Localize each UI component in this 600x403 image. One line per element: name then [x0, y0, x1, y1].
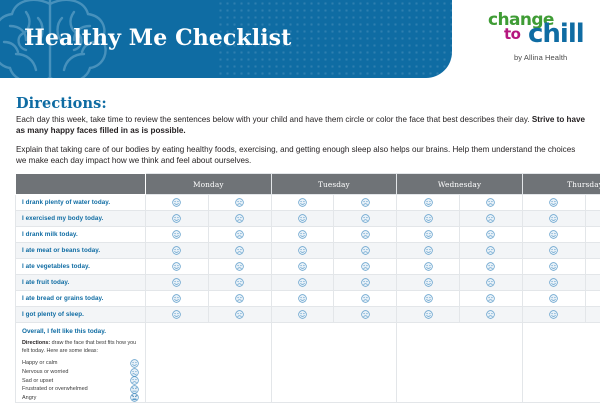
table-row: I ate bread or grains today.	[16, 291, 600, 307]
table-body: I drank plenty of water today.I exercise…	[16, 195, 600, 403]
happy-face-cell[interactable]	[271, 195, 334, 211]
table-row: I ate vegetables today.	[16, 259, 600, 275]
directions-heading: Directions:	[16, 95, 107, 112]
table-row: I exercised my body today.	[16, 211, 600, 227]
overall-feeling-instructions: Overall, I felt like this today.Directio…	[16, 323, 146, 403]
sad-face-icon[interactable]	[486, 230, 495, 239]
happy-face-cell[interactable]	[146, 275, 209, 291]
happy-face-cell[interactable]	[397, 291, 460, 307]
happy-face-icon[interactable]	[298, 294, 307, 303]
sad-face-cell[interactable]	[334, 211, 397, 227]
happy-face-icon[interactable]	[549, 230, 558, 239]
happy-face-cell[interactable]	[397, 211, 460, 227]
sad-face-icon[interactable]	[235, 246, 244, 255]
happy-face-icon[interactable]	[172, 230, 181, 239]
happy-face-cell[interactable]	[146, 307, 209, 323]
directions-body: Each day this week, take time to review …	[16, 114, 586, 174]
happy-face-icon[interactable]	[549, 262, 558, 271]
sad-face-cell[interactable]	[585, 211, 600, 227]
sad-face-icon[interactable]	[235, 262, 244, 271]
happy-face-icon[interactable]	[172, 246, 181, 255]
sad-face-cell[interactable]	[334, 243, 397, 259]
happy-face-cell[interactable]	[271, 243, 334, 259]
day-header-thursday: Thursday	[522, 174, 600, 195]
happy-face-cell[interactable]	[397, 275, 460, 291]
happy-face-cell[interactable]	[522, 259, 585, 275]
sad-face-cell[interactable]	[460, 195, 523, 211]
sad-face-cell[interactable]	[334, 275, 397, 291]
sad-face-cell[interactable]	[585, 195, 600, 211]
happy-face-cell[interactable]	[522, 307, 585, 323]
page-title: Healthy Me Checklist	[24, 25, 291, 51]
happy-face-icon[interactable]	[549, 198, 558, 207]
sad-face-icon[interactable]	[486, 214, 495, 223]
sad-face-icon[interactable]	[486, 262, 495, 271]
sad-face-cell[interactable]	[334, 259, 397, 275]
table-row: I drank milk today.	[16, 227, 600, 243]
happy-face-cell[interactable]	[271, 307, 334, 323]
day-header-wednesday: Wednesday	[397, 174, 523, 195]
header-banner: Healthy Me Checklist	[0, 0, 452, 78]
logo-word-chill: chill	[528, 21, 584, 47]
sad-face-cell[interactable]	[585, 227, 600, 243]
table-row: I ate meat or beans today.	[16, 243, 600, 259]
happy-face-cell[interactable]	[146, 211, 209, 227]
drawing-cell[interactable]	[522, 323, 600, 403]
table-row: I ate fruit today.	[16, 275, 600, 291]
sad-face-cell[interactable]	[460, 275, 523, 291]
overall-feeling-title: Overall, I felt like this today.	[22, 328, 139, 335]
sad-face-icon[interactable]	[361, 246, 370, 255]
day-header-monday: Monday	[146, 174, 272, 195]
happy-face-cell[interactable]	[397, 227, 460, 243]
directions-paragraph-1: Each day this week, take time to review …	[16, 114, 586, 137]
happy-face-icon[interactable]	[424, 198, 433, 207]
sad-face-cell[interactable]	[208, 211, 271, 227]
happy-face-icon[interactable]	[549, 278, 558, 287]
table-row: I got plenty of sleep.	[16, 307, 600, 323]
checklist-table: Monday Tuesday Wednesday Thursday Friday…	[15, 173, 600, 403]
sad-face-cell[interactable]	[585, 259, 600, 275]
happy-face-cell[interactable]	[146, 227, 209, 243]
mood-label: Happy or calm	[22, 360, 124, 366]
mood-legend-item: Happy or calm	[22, 359, 144, 368]
sad-face-cell[interactable]	[460, 307, 523, 323]
checklist-item-label: I got plenty of sleep.	[16, 307, 146, 323]
sad-face-icon[interactable]	[235, 278, 244, 287]
happy-face-icon[interactable]	[424, 246, 433, 255]
sad-face-cell[interactable]	[585, 243, 600, 259]
checklist-item-label: I drank milk today.	[16, 227, 146, 243]
happy-face-icon[interactable]	[298, 310, 307, 319]
happy-face-cell[interactable]	[146, 195, 209, 211]
logo-word-to: to	[504, 27, 520, 42]
sad-face-cell[interactable]	[334, 307, 397, 323]
sad-face-cell[interactable]	[208, 259, 271, 275]
sad-face-icon[interactable]	[486, 246, 495, 255]
sad-face-icon[interactable]	[486, 278, 495, 287]
happy-face-icon[interactable]	[424, 294, 433, 303]
happy-face-cell[interactable]	[397, 259, 460, 275]
happy-face-cell[interactable]	[271, 211, 334, 227]
happy-face-icon[interactable]	[424, 262, 433, 271]
sad-face-cell[interactable]	[334, 291, 397, 307]
sad-face-cell[interactable]	[460, 243, 523, 259]
happy-face-icon[interactable]	[298, 214, 307, 223]
mood-label: Frustrated or overwhelmed	[22, 386, 124, 392]
overall-feeling-row: Overall, I felt like this today.Directio…	[16, 323, 600, 403]
happy-face-icon[interactable]	[298, 230, 307, 239]
happy-face-cell[interactable]	[271, 291, 334, 307]
happy-face-icon[interactable]	[424, 278, 433, 287]
table-header: Monday Tuesday Wednesday Thursday Friday…	[16, 174, 600, 195]
sad-face-cell[interactable]	[460, 211, 523, 227]
sad-face-cell[interactable]	[208, 227, 271, 243]
happy-face-icon[interactable]	[424, 310, 433, 319]
happy-face-icon[interactable]	[424, 214, 433, 223]
sad-face-icon[interactable]	[486, 198, 495, 207]
mood-legend-item: Sad or upset	[22, 376, 144, 385]
directions-paragraph-2: Explain that taking care of our bodies b…	[16, 144, 586, 167]
worksheet-page: Healthy Me Checklist change to chill by …	[0, 0, 600, 400]
overall-feeling-directions: Directions: draw the face that best fits…	[22, 340, 142, 355]
table-header-row: Monday Tuesday Wednesday Thursday Friday…	[16, 174, 600, 195]
sad-face-cell[interactable]	[208, 243, 271, 259]
sad-face-icon[interactable]	[235, 230, 244, 239]
sad-face-cell[interactable]	[585, 275, 600, 291]
sad-face-icon[interactable]	[361, 262, 370, 271]
happy-face-cell[interactable]	[146, 291, 209, 307]
sad-face-cell[interactable]	[208, 307, 271, 323]
sad-face-cell[interactable]	[334, 195, 397, 211]
drawing-cell[interactable]	[271, 323, 397, 403]
happy-face-icon[interactable]	[298, 278, 307, 287]
mood-legend-item: Frustrated or overwhelmed	[22, 385, 144, 394]
happy-face-icon[interactable]	[549, 294, 558, 303]
directions-p1-normal: Each day this week, take time to review …	[16, 115, 532, 124]
mood-legend-item: Angry	[22, 394, 144, 403]
happy-face-icon[interactable]	[172, 198, 181, 207]
sad-face-icon[interactable]	[235, 214, 244, 223]
checklist-item-label: I drank plenty of water today.	[16, 195, 146, 211]
happy-face-icon[interactable]	[298, 198, 307, 207]
happy-face-cell[interactable]	[271, 259, 334, 275]
happy-face-cell[interactable]	[397, 195, 460, 211]
happy-face-cell[interactable]	[397, 243, 460, 259]
sad-face-icon[interactable]	[361, 310, 370, 319]
checklist-item-label: I exercised my body today.	[16, 211, 146, 227]
happy-face-icon[interactable]	[298, 246, 307, 255]
sad-face-cell[interactable]	[208, 291, 271, 307]
sad-face-cell[interactable]	[585, 291, 600, 307]
sad-face-icon[interactable]	[235, 294, 244, 303]
logo-byline: by Allina Health	[514, 53, 567, 62]
happy-face-cell[interactable]	[522, 195, 585, 211]
mood-legend-item: Nervous or worried	[22, 368, 144, 377]
table-row: I drank plenty of water today.	[16, 195, 600, 211]
sad-face-cell[interactable]	[460, 291, 523, 307]
happy-face-icon[interactable]	[549, 246, 558, 255]
drawing-cell[interactable]	[146, 323, 272, 403]
happy-face-cell[interactable]	[271, 275, 334, 291]
mood-label: Nervous or worried	[22, 369, 124, 375]
sad-face-icon[interactable]	[361, 230, 370, 239]
drawing-cell[interactable]	[397, 323, 523, 403]
happy-face-icon[interactable]	[549, 310, 558, 319]
sad-face-cell[interactable]	[208, 195, 271, 211]
happy-face-icon[interactable]	[172, 262, 181, 271]
happy-face-icon[interactable]	[298, 262, 307, 271]
sad-face-cell[interactable]	[585, 307, 600, 323]
happy-face-cell[interactable]	[397, 307, 460, 323]
mood-label: Sad or upset	[22, 378, 124, 384]
happy-face-icon[interactable]	[172, 294, 181, 303]
sad-face-icon[interactable]	[486, 310, 495, 319]
happy-face-cell[interactable]	[146, 243, 209, 259]
brand-logo: change to chill by Allina Health	[484, 12, 590, 70]
checklist-item-label: I ate fruit today.	[16, 275, 146, 291]
sad-face-icon[interactable]	[235, 198, 244, 207]
sad-face-icon[interactable]	[361, 214, 370, 223]
table-corner-header	[16, 174, 146, 195]
sad-face-cell[interactable]	[208, 275, 271, 291]
sad-face-icon[interactable]	[235, 310, 244, 319]
day-header-tuesday: Tuesday	[271, 174, 397, 195]
angry-face-icon	[124, 393, 144, 402]
mood-legend: Happy or calmNervous or worriedSad or up…	[22, 359, 144, 402]
sad-face-cell[interactable]	[460, 259, 523, 275]
sad-face-cell[interactable]	[334, 227, 397, 243]
happy-face-cell[interactable]	[522, 275, 585, 291]
sad-face-icon[interactable]	[361, 198, 370, 207]
happy-face-cell[interactable]	[271, 227, 334, 243]
happy-face-icon[interactable]	[172, 214, 181, 223]
sad-face-icon[interactable]	[486, 294, 495, 303]
sad-face-cell[interactable]	[460, 227, 523, 243]
checklist-item-label: I ate meat or beans today.	[16, 243, 146, 259]
happy-face-cell[interactable]	[522, 211, 585, 227]
happy-face-icon[interactable]	[172, 278, 181, 287]
happy-face-cell[interactable]	[522, 227, 585, 243]
sad-face-icon[interactable]	[361, 294, 370, 303]
checklist-item-label: I ate vegetables today.	[16, 259, 146, 275]
happy-face-icon[interactable]	[424, 230, 433, 239]
happy-face-icon[interactable]	[172, 310, 181, 319]
happy-face-icon[interactable]	[549, 214, 558, 223]
happy-face-cell[interactable]	[522, 243, 585, 259]
happy-face-cell[interactable]	[146, 259, 209, 275]
sad-face-icon[interactable]	[361, 278, 370, 287]
happy-face-cell[interactable]	[522, 291, 585, 307]
checklist-item-label: I ate bread or grains today.	[16, 291, 146, 307]
overall-directions-label: Directions:	[22, 340, 50, 346]
